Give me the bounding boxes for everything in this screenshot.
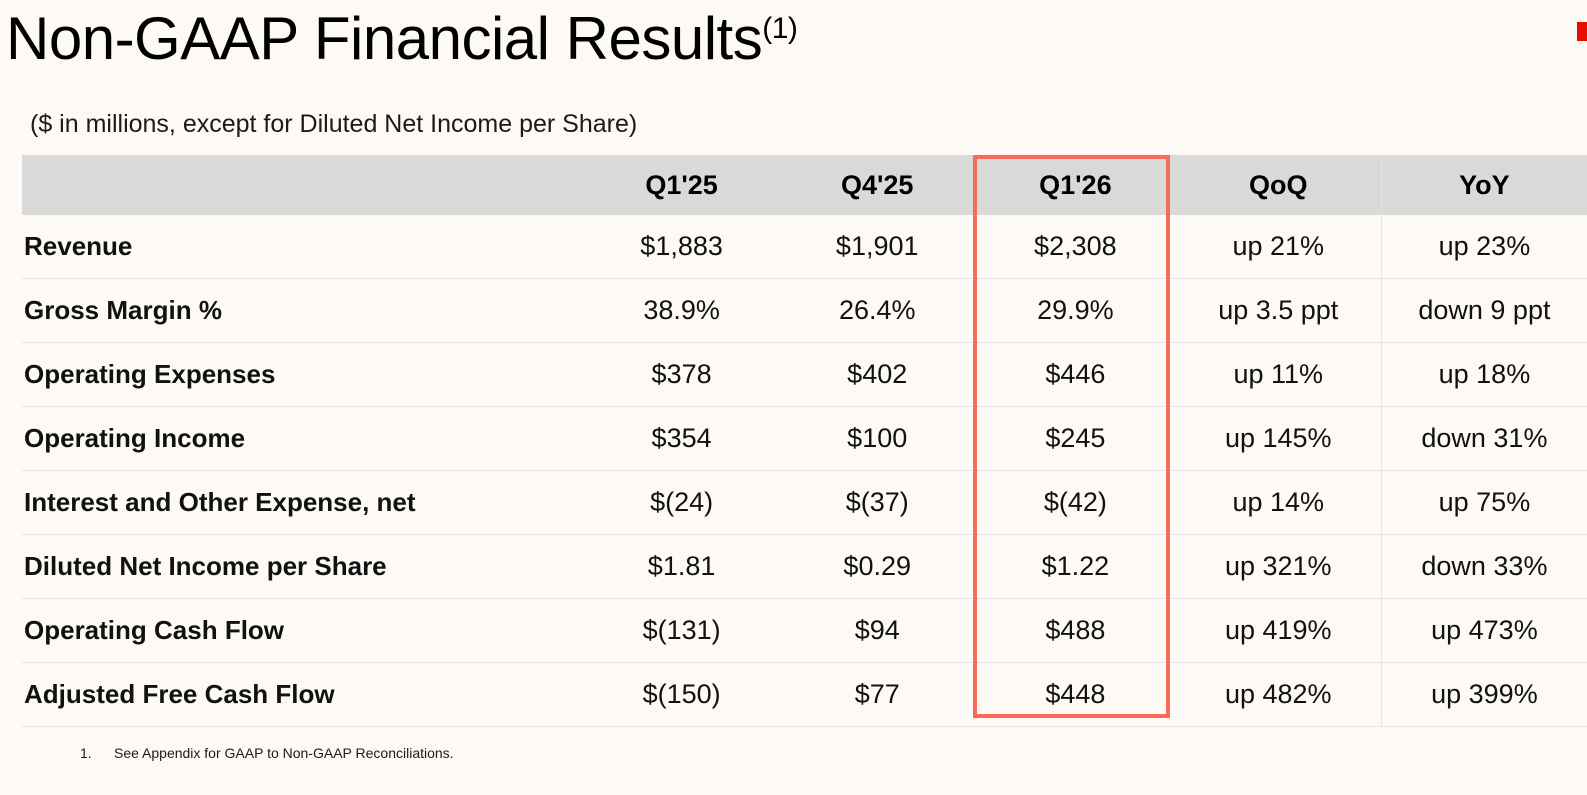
table-row: Revenue $1,883 $1,901 $2,308 up 21% up 2… bbox=[22, 215, 1587, 279]
cell-operating-income-q4-25: $100 bbox=[779, 407, 975, 471]
cell-adjusted-fcf-qoq: up 482% bbox=[1176, 663, 1382, 727]
cell-operating-cash-flow-yoy: up 473% bbox=[1381, 599, 1587, 663]
row-label-operating-income: Operating Income bbox=[22, 407, 584, 471]
column-header-q1-25: Q1'25 bbox=[584, 155, 780, 215]
financial-table-container: Q1'25 Q4'25 Q1'26 QoQ YoY Revenue $1,883… bbox=[22, 155, 1587, 727]
row-label-diluted-net-income-per-share: Diluted Net Income per Share bbox=[22, 535, 584, 599]
cell-gross-margin-q4-25: 26.4% bbox=[779, 279, 975, 343]
table-row: Operating Income $354 $100 $245 up 145% … bbox=[22, 407, 1587, 471]
cell-interest-other-expense-q4-25: $(37) bbox=[779, 471, 975, 535]
cell-gross-margin-q1-25: 38.9% bbox=[584, 279, 780, 343]
cell-diluted-eps-q1-26: $1.22 bbox=[975, 535, 1176, 599]
cell-adjusted-fcf-q4-25: $77 bbox=[779, 663, 975, 727]
cell-operating-expenses-qoq: up 11% bbox=[1176, 343, 1382, 407]
table-row: Operating Cash Flow $(131) $94 $488 up 4… bbox=[22, 599, 1587, 663]
units-subtitle: ($ in millions, except for Diluted Net I… bbox=[30, 110, 637, 139]
cell-revenue-yoy: up 23% bbox=[1381, 215, 1587, 279]
column-header-q4-25: Q4'25 bbox=[779, 155, 975, 215]
cell-operating-income-q1-26: $245 bbox=[975, 407, 1176, 471]
cell-diluted-eps-q1-25: $1.81 bbox=[584, 535, 780, 599]
row-label-gross-margin: Gross Margin % bbox=[22, 279, 584, 343]
cell-operating-expenses-q1-25: $378 bbox=[584, 343, 780, 407]
column-header-yoy: YoY bbox=[1381, 155, 1587, 215]
column-header-q1-26: Q1'26 bbox=[975, 155, 1176, 215]
cell-operating-expenses-q4-25: $402 bbox=[779, 343, 975, 407]
column-header-metric bbox=[22, 155, 584, 215]
page-title: Non-GAAP Financial Results(1) bbox=[6, 6, 797, 72]
cell-diluted-eps-q4-25: $0.29 bbox=[779, 535, 975, 599]
cell-interest-other-expense-qoq: up 14% bbox=[1176, 471, 1382, 535]
cell-gross-margin-qoq: up 3.5 ppt bbox=[1176, 279, 1382, 343]
cell-interest-other-expense-q1-25: $(24) bbox=[584, 471, 780, 535]
cell-adjusted-fcf-q1-25: $(150) bbox=[584, 663, 780, 727]
page-title-text: Non-GAAP Financial Results bbox=[6, 5, 762, 72]
row-label-operating-expenses: Operating Expenses bbox=[22, 343, 584, 407]
table-row: Adjusted Free Cash Flow $(150) $77 $448 … bbox=[22, 663, 1587, 727]
brand-accent-tick bbox=[1577, 22, 1587, 41]
financial-results-table: Q1'25 Q4'25 Q1'26 QoQ YoY Revenue $1,883… bbox=[22, 155, 1587, 727]
cell-operating-cash-flow-q1-26: $488 bbox=[975, 599, 1176, 663]
table-row: Gross Margin % 38.9% 26.4% 29.9% up 3.5 … bbox=[22, 279, 1587, 343]
cell-operating-cash-flow-q4-25: $94 bbox=[779, 599, 975, 663]
cell-revenue-q4-25: $1,901 bbox=[779, 215, 975, 279]
table-body: Revenue $1,883 $1,901 $2,308 up 21% up 2… bbox=[22, 215, 1587, 727]
cell-interest-other-expense-q1-26: $(42) bbox=[975, 471, 1176, 535]
table-header: Q1'25 Q4'25 Q1'26 QoQ YoY bbox=[22, 155, 1587, 215]
cell-operating-income-q1-25: $354 bbox=[584, 407, 780, 471]
cell-operating-cash-flow-q1-25: $(131) bbox=[584, 599, 780, 663]
row-label-operating-cash-flow: Operating Cash Flow bbox=[22, 599, 584, 663]
cell-diluted-eps-yoy: down 33% bbox=[1381, 535, 1587, 599]
cell-revenue-q1-25: $1,883 bbox=[584, 215, 780, 279]
footnote: 1.See Appendix for GAAP to Non-GAAP Reco… bbox=[80, 745, 454, 761]
cell-gross-margin-q1-26: 29.9% bbox=[975, 279, 1176, 343]
cell-operating-cash-flow-qoq: up 419% bbox=[1176, 599, 1382, 663]
row-label-interest-other-expense: Interest and Other Expense, net bbox=[22, 471, 584, 535]
footnote-number: 1. bbox=[80, 745, 114, 761]
table-row: Operating Expenses $378 $402 $446 up 11%… bbox=[22, 343, 1587, 407]
cell-interest-other-expense-yoy: up 75% bbox=[1381, 471, 1587, 535]
cell-operating-income-qoq: up 145% bbox=[1176, 407, 1382, 471]
cell-revenue-q1-26: $2,308 bbox=[975, 215, 1176, 279]
table-row: Diluted Net Income per Share $1.81 $0.29… bbox=[22, 535, 1587, 599]
table-header-row: Q1'25 Q4'25 Q1'26 QoQ YoY bbox=[22, 155, 1587, 215]
cell-adjusted-fcf-q1-26: $448 bbox=[975, 663, 1176, 727]
column-header-qoq: QoQ bbox=[1176, 155, 1382, 215]
cell-operating-expenses-q1-26: $446 bbox=[975, 343, 1176, 407]
table-row: Interest and Other Expense, net $(24) $(… bbox=[22, 471, 1587, 535]
row-label-adjusted-free-cash-flow: Adjusted Free Cash Flow bbox=[22, 663, 584, 727]
row-label-revenue: Revenue bbox=[22, 215, 584, 279]
cell-diluted-eps-qoq: up 321% bbox=[1176, 535, 1382, 599]
cell-gross-margin-yoy: down 9 ppt bbox=[1381, 279, 1587, 343]
cell-operating-expenses-yoy: up 18% bbox=[1381, 343, 1587, 407]
cell-adjusted-fcf-yoy: up 399% bbox=[1381, 663, 1587, 727]
cell-operating-income-yoy: down 31% bbox=[1381, 407, 1587, 471]
footnote-text: See Appendix for GAAP to Non-GAAP Reconc… bbox=[114, 745, 454, 761]
page-title-footnote-marker: (1) bbox=[762, 12, 797, 45]
cell-revenue-qoq: up 21% bbox=[1176, 215, 1382, 279]
